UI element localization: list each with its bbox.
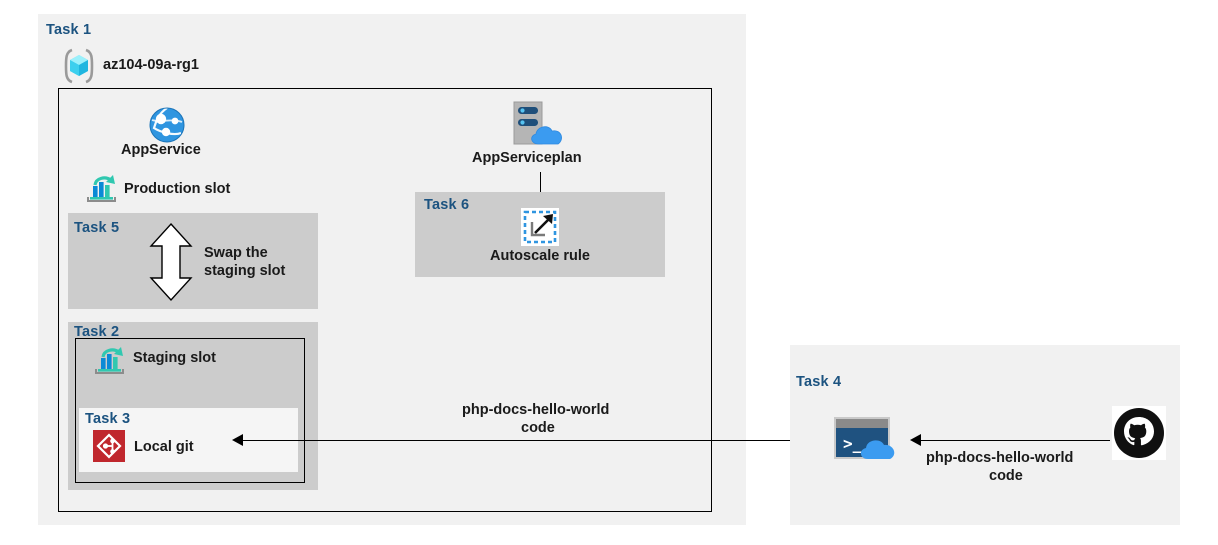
resource-group-name: az104-09a-rg1	[103, 57, 199, 75]
staging-slot-name: Staging slot	[133, 350, 216, 368]
production-slot-name: Production slot	[124, 181, 230, 199]
deployment-slot-icon-production	[86, 174, 120, 204]
git-logo-icon	[93, 430, 125, 462]
app-service-plan-server-cloud-icon	[512, 100, 568, 148]
github-to-cloudshell-label-line1: php-docs-hello-world	[926, 450, 1073, 468]
cloudshell-to-localgit-label-line2: code	[521, 420, 555, 438]
connector-github-to-cloudshell	[921, 440, 1110, 441]
diagram-canvas: Task 1 az104-09a-rg1 AppService	[0, 0, 1218, 545]
autoscale-rule-icon	[521, 208, 559, 246]
task1-label: Task 1	[46, 22, 91, 38]
task5-text-line2: staging slot	[204, 263, 285, 281]
autoscale-rule-name: Autoscale rule	[490, 248, 590, 266]
github-octocat-icon	[1112, 406, 1166, 460]
app-service-plan-name: AppServiceplan	[472, 150, 582, 168]
task5-text-line1: Swap the	[204, 245, 268, 263]
swap-double-arrow-icon	[146, 222, 196, 302]
task4-label: Task 4	[796, 374, 841, 390]
app-service-name: AppService	[121, 142, 201, 160]
cloudshell-to-localgit-label-line1: php-docs-hello-world	[462, 402, 609, 420]
connector-cloudshell-to-localgit-arrowhead	[232, 434, 243, 446]
task5-label: Task 5	[74, 220, 119, 236]
svg-text:>_: >_	[843, 434, 863, 453]
github-to-cloudshell-label-line2: code	[989, 468, 1023, 486]
connector-github-to-cloudshell-arrowhead	[910, 434, 921, 446]
task3-label: Task 3	[85, 411, 130, 427]
deployment-slot-icon-staging	[94, 346, 128, 376]
cloud-shell-icon: >_	[832, 415, 900, 465]
task6-label: Task 6	[424, 197, 469, 213]
resource-group-cube-icon	[62, 48, 96, 84]
app-service-globe-icon	[148, 106, 186, 144]
connector-cloudshell-to-localgit	[243, 440, 819, 441]
local-git-name: Local git	[134, 439, 194, 457]
